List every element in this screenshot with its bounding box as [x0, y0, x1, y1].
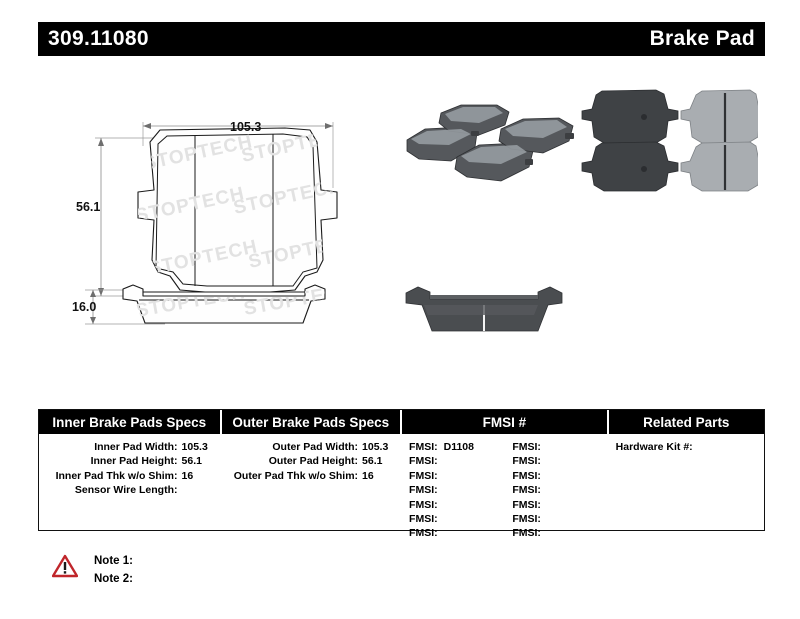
- spec-label: Inner Pad Thk w/o Shim:: [39, 469, 178, 483]
- column-header-outer-specs: Outer Brake Pads Specs: [220, 410, 401, 434]
- table-header-row: Inner Brake Pads Specs Outer Brake Pads …: [39, 410, 764, 434]
- column-header-fmsi: FMSI #: [400, 410, 607, 434]
- spec-row: Outer Pad Width: 105.3: [220, 440, 401, 454]
- title-bar: 309.11080 Brake Pad: [38, 22, 765, 56]
- column-header-related-parts: Related Parts: [607, 410, 764, 434]
- fmsi-value: [438, 512, 444, 526]
- thickness-dimension-label: 16.0: [72, 300, 96, 314]
- fmsi-cell: FMSI: D1108 FMSI: FMSI: FMSI:: [400, 434, 607, 541]
- fmsi-value: [438, 526, 444, 540]
- pad-photo-backing-2: [582, 142, 678, 191]
- fmsi-row: FMSI:: [400, 526, 503, 540]
- fmsi-label: FMSI:: [512, 498, 541, 512]
- product-type: Brake Pad: [650, 27, 755, 51]
- spec-value: 56.1: [178, 454, 220, 468]
- specs-table: Inner Brake Pads Specs Outer Brake Pads …: [38, 409, 765, 531]
- spec-label: Outer Pad Thk w/o Shim:: [220, 469, 359, 483]
- spec-label: Inner Pad Height:: [39, 454, 178, 468]
- spec-label: Inner Pad Width:: [39, 440, 178, 454]
- product-photo-angled: [405, 85, 595, 195]
- fmsi-label: FMSI:: [409, 526, 438, 540]
- spec-value: [178, 483, 220, 497]
- fmsi-value: [541, 526, 547, 540]
- fmsi-row: FMSI:: [503, 498, 606, 512]
- spec-row: Inner Pad Width: 105.3: [39, 440, 220, 454]
- note-1: Note 1:: [94, 552, 133, 570]
- spec-row: Inner Pad Height: 56.1: [39, 454, 220, 468]
- fmsi-row: FMSI:: [503, 440, 606, 454]
- fmsi-label: FMSI:: [512, 454, 541, 468]
- spec-value: 16: [358, 469, 400, 483]
- fmsi-column-right: FMSI: FMSI: FMSI: FMSI:: [503, 440, 606, 541]
- fmsi-label: FMSI:: [512, 483, 541, 497]
- fmsi-value: [541, 440, 547, 454]
- outer-specs-cell: Outer Pad Width: 105.3 Outer Pad Height:…: [220, 434, 401, 541]
- width-dimension-label: 105.3: [230, 120, 261, 134]
- fmsi-label: FMSI:: [512, 526, 541, 540]
- fmsi-value: [541, 483, 547, 497]
- fmsi-label: FMSI:: [409, 498, 438, 512]
- fmsi-column-left: FMSI: D1108 FMSI: FMSI: FMSI:: [400, 440, 503, 541]
- spec-row: Sensor Wire Length:: [39, 483, 220, 497]
- spec-value: 16: [178, 469, 220, 483]
- fmsi-label: FMSI:: [409, 483, 438, 497]
- fmsi-row: FMSI:: [503, 483, 606, 497]
- column-header-inner-specs: Inner Brake Pads Specs: [39, 410, 220, 434]
- height-dimension-label: 56.1: [76, 200, 100, 214]
- fmsi-row: FMSI:: [400, 512, 503, 526]
- fmsi-value: [438, 469, 444, 483]
- fmsi-row: FMSI:: [400, 469, 503, 483]
- fmsi-row: FMSI:: [503, 512, 606, 526]
- fmsi-value: [438, 454, 444, 468]
- spec-label: Outer Pad Height:: [220, 454, 359, 468]
- fmsi-value: [541, 469, 547, 483]
- spec-value: 105.3: [178, 440, 220, 454]
- fmsi-value: D1108: [438, 440, 474, 454]
- spec-value: 56.1: [358, 454, 400, 468]
- fmsi-row: FMSI:: [503, 526, 606, 540]
- fmsi-label: FMSI:: [409, 454, 438, 468]
- fmsi-label: FMSI:: [409, 469, 438, 483]
- table-body: Inner Pad Width: 105.3 Inner Pad Height:…: [39, 434, 764, 541]
- notes-section: Note 1: Note 2:: [52, 552, 133, 588]
- fmsi-row: FMSI:: [400, 498, 503, 512]
- inner-specs-cell: Inner Pad Width: 105.3 Inner Pad Height:…: [39, 434, 220, 541]
- part-number: 309.11080: [48, 27, 149, 51]
- fmsi-label: FMSI:: [409, 440, 438, 454]
- fmsi-value: [438, 498, 444, 512]
- fmsi-row: FMSI:: [503, 469, 606, 483]
- pad-side-view-drawing: STOPTECH STOPTECH: [55, 275, 455, 355]
- product-photo-grid: [578, 85, 758, 195]
- spec-label: Outer Pad Width:: [220, 440, 359, 454]
- fmsi-label: FMSI:: [512, 440, 541, 454]
- product-photo-side-profile: [398, 275, 578, 345]
- fmsi-row: FMSI:: [503, 454, 606, 468]
- spec-row: Inner Pad Thk w/o Shim: 16: [39, 469, 220, 483]
- fmsi-label: FMSI:: [512, 469, 541, 483]
- fmsi-value: [541, 454, 547, 468]
- spec-label: Sensor Wire Length:: [39, 483, 178, 497]
- fmsi-label: FMSI:: [409, 512, 438, 526]
- fmsi-label: FMSI:: [512, 512, 541, 526]
- drawing-area: STOPTECH STOPTECH STOPTECH STOPTECH STOP…: [0, 60, 800, 400]
- pad-photo-friction-1: [681, 90, 758, 143]
- related-parts-cell: Hardware Kit #:: [607, 434, 764, 541]
- spec-row: Outer Pad Thk w/o Shim: 16: [220, 469, 401, 483]
- fmsi-value: [438, 483, 444, 497]
- warning-triangle-icon: [52, 554, 78, 578]
- spec-value: 105.3: [358, 440, 400, 454]
- pad-photo-backing-1: [582, 90, 678, 143]
- fmsi-value: [541, 498, 547, 512]
- fmsi-value: [541, 512, 547, 526]
- pad-photo-friction-2: [681, 142, 758, 191]
- fmsi-row: FMSI:: [400, 483, 503, 497]
- spec-row: Outer Pad Height: 56.1: [220, 454, 401, 468]
- note-2: Note 2:: [94, 570, 133, 588]
- related-part-row: Hardware Kit #:: [607, 440, 764, 454]
- fmsi-row: FMSI:: [400, 454, 503, 468]
- fmsi-row: FMSI: D1108: [400, 440, 503, 454]
